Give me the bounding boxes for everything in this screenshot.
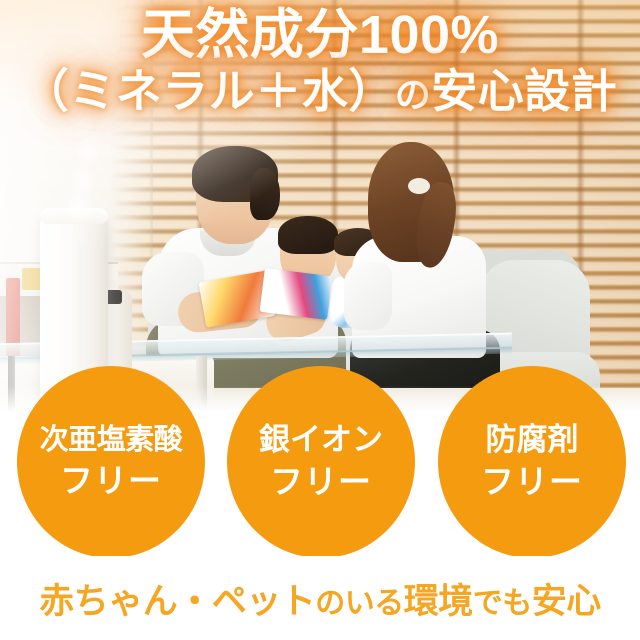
badge-circle-silver-ion-free[interactable]: 銀イオン フリー: [227, 366, 415, 558]
badge-label-line2: フリー: [481, 465, 583, 500]
footer-tagline: 赤ちゃん・ペットのいる環境でも安心: [39, 573, 601, 624]
badge-circle-hypochlorous-free[interactable]: 次亜塩素酸 フリー: [17, 366, 205, 558]
badge-label-line1: 銀イオン: [259, 424, 383, 457]
badge-label-line2: フリー: [270, 465, 372, 500]
promo-banner: 天然成分100% （ミネラル＋水）の安心設計 次亜塩素酸 フリー 銀イオン フリ…: [0, 0, 640, 640]
table-leg: [196, 356, 207, 412]
footer-part-4: でも: [473, 587, 532, 620]
badge-label-line2: フリー: [60, 464, 162, 499]
footer-part-2: のいる: [315, 587, 404, 620]
badge-label-line1: 防腐剤: [486, 424, 579, 457]
footer-part-3: 環境: [404, 582, 473, 621]
mother-sleeve: [344, 262, 392, 330]
footer-part-5: 安心: [532, 582, 601, 621]
footer-bar: 赤ちゃん・ペットのいる環境でも安心: [0, 556, 640, 640]
mother-hair-tie: [408, 178, 430, 194]
picture-book-right: [260, 268, 333, 320]
badge-circle-preservative-free[interactable]: 防腐剤 フリー: [438, 366, 626, 558]
footer-part-1: 赤ちゃん・ペット: [39, 582, 315, 621]
lifestyle-photo: [0, 0, 640, 412]
badge-label-line1: 次亜塩素酸: [40, 425, 183, 455]
window-light-left: [0, 0, 160, 412]
